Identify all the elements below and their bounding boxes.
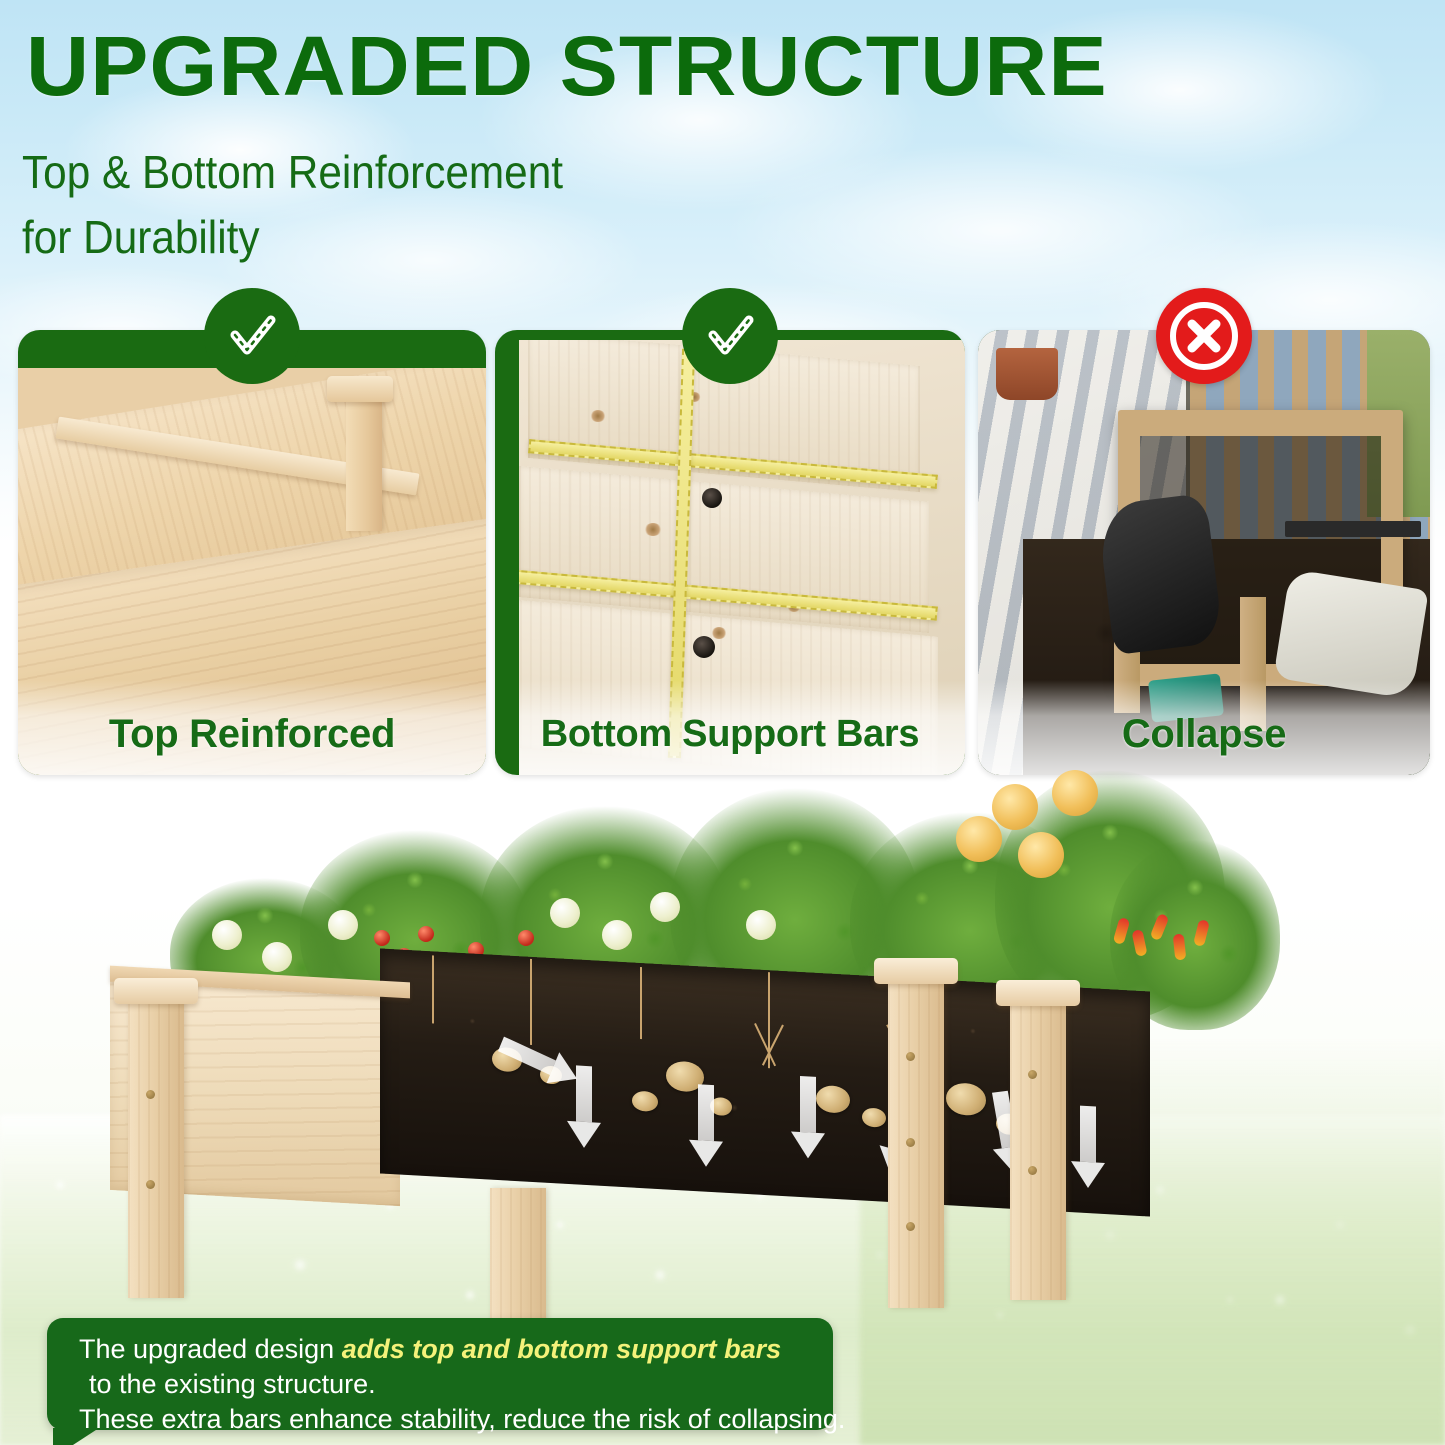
card-label-collapse: Collapse [978,693,1430,775]
caption-callout: The upgraded design adds top and bottom … [47,1318,833,1430]
page-subtitle: Top & Bottom Reinforcement for Durabilit… [22,140,721,271]
card-label-bottom-support-bars: Bottom Support Bars [495,693,965,775]
feature-card-top-reinforced[interactable]: Top Reinforced [18,330,486,775]
subtitle-line-1: Top & Bottom Reinforcement [22,140,721,205]
planter-body [110,970,1245,1230]
card-frame: Bottom Support Bars [495,330,965,775]
infographic-stage: UPGRADED STRUCTURE Top & Bottom Reinforc… [0,0,1445,1445]
card-label-top-reinforced: Top Reinforced [18,693,486,775]
subtitle-line-2: for Durability [22,205,721,270]
caption-line-1-pre: The upgraded design [79,1334,342,1364]
feature-card-row: Top Reinforced [0,300,1445,800]
check-badge-icon [682,288,778,384]
check-badge-icon [204,288,300,384]
caption-line-1: The upgraded design adds top and bottom … [79,1332,807,1367]
feature-card-bottom-support-bars[interactable]: Bottom Support Bars [495,330,965,775]
caption-emphasis: adds top and bottom support bars [342,1334,782,1364]
planter-leg-front-left [128,998,184,1298]
hero-product-image [0,770,1445,1330]
card-frame: Top Reinforced [18,330,486,775]
planter-leg-front-right [888,978,944,1308]
caption-line-3: These extra bars enhance stability, redu… [79,1402,807,1437]
caption-line-2: to the existing structure. [79,1367,807,1402]
card-frame: Collapse [978,330,1430,775]
page-title: UPGRADED STRUCTURE [26,22,1445,110]
planter-leg-back-right [1010,1000,1066,1300]
cross-badge-icon [1156,288,1252,384]
feature-card-collapse[interactable]: Collapse [978,330,1430,775]
